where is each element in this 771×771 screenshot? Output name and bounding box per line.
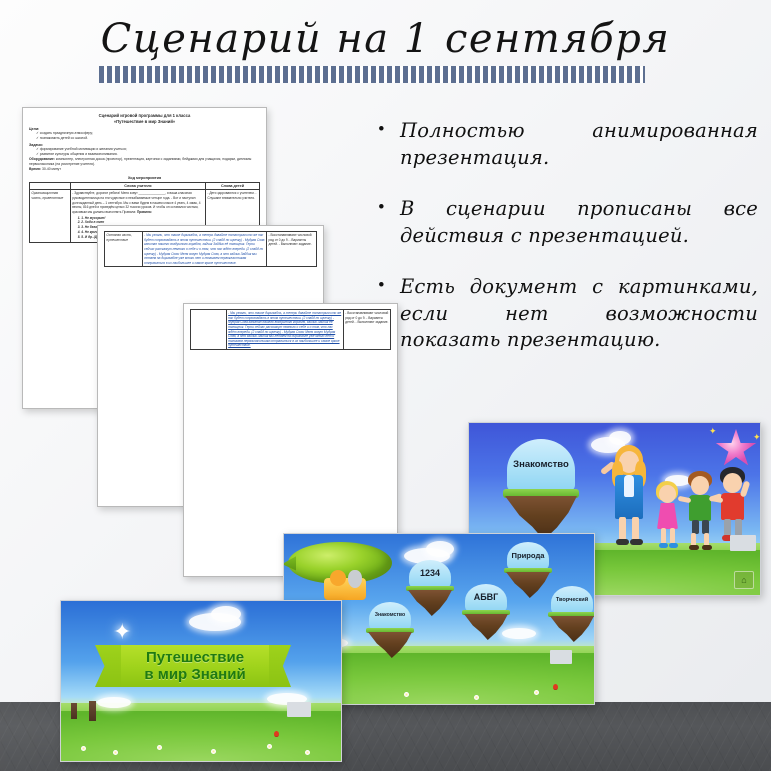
island-label: 1234 [409, 560, 451, 588]
equipment-text: компьютер, электронная доска (проектор),… [29, 157, 251, 166]
equipment-line: Оборудование: компьютер, электронная дос… [29, 157, 260, 167]
list-item: • Есть документ с картинками, если нет в… [378, 274, 758, 355]
col-header-stage [30, 183, 71, 190]
scenario-table-page2: Основная часть, путешествие - Мы узнали,… [104, 231, 317, 267]
cell-children: - Восстанавливают числовой ряд от 0 до 9… [343, 310, 390, 350]
bullet-text: В сценарии прописаны все действия с през… [392, 196, 758, 250]
teacher-figure [609, 445, 649, 547]
goal-text: познакомить детей со школой. [40, 136, 88, 140]
child-boy-green-figure [685, 471, 717, 553]
island-label: АБВГ [465, 584, 507, 612]
list-item: • В сценарии прописаны все действия с пр… [378, 196, 758, 250]
col-header-teacher: Слова учителя [70, 183, 205, 190]
presentation-preview-canvas: Сценарий на 1 сентября • Полностью аними… [0, 0, 771, 771]
title-divider-stripes [99, 66, 645, 83]
table-row: Основная часть, путешествие - Мы узнали,… [105, 232, 317, 267]
time-label: Время: [29, 167, 41, 171]
col-header-children: Слова детей [205, 183, 259, 190]
goal-text: создать праздничную атмосферу; [40, 131, 93, 135]
rules-label: Правила: [137, 210, 152, 214]
island-znakomstvo[interactable]: Знакомство [499, 439, 583, 539]
star-character-icon [715, 429, 757, 469]
task-text: развитие культуры общения и взаимопонима… [40, 152, 118, 156]
section-heading: Ход мероприятия [29, 176, 260, 180]
bullet-marker-icon: • [378, 118, 392, 142]
table-header-row: Слова учителя Слова детей [30, 183, 260, 190]
bullet-text: Есть документ с картинками, если нет воз… [392, 274, 758, 355]
island-tvorcheskiy[interactable]: Творческий [546, 586, 595, 644]
cell-teacher: - Мы узнали, что такое дирижабль, а тепе… [142, 232, 266, 267]
table-row: - Мы узнали, что такое дирижабль, а тепе… [191, 310, 391, 350]
island-label: Знакомство [507, 439, 575, 491]
house-decoration [287, 702, 311, 717]
windmill-decoration [89, 701, 96, 721]
equipment-label: Оборудование: [29, 157, 55, 161]
ladybug-decoration [553, 684, 558, 690]
list-item: • Полностью анимированная презентация. [378, 118, 758, 172]
time-text: 30-40 минут [42, 167, 61, 171]
goal-item: ✓ познакомить детей со школой. [29, 136, 260, 141]
sparkle-icon: ✦ [709, 427, 717, 436]
rabbit-character-icon [348, 570, 362, 588]
banner-line-2: в мир Знаний [144, 666, 245, 683]
ladybug-decoration [274, 731, 279, 737]
slide-title[interactable]: ✦ Путешествие в мир Знаний [60, 600, 342, 762]
bullet-marker-icon: • [378, 196, 392, 220]
bullet-text: Полностью анимированная презентация. [392, 118, 758, 172]
title-banner: Путешествие в мир Знаний [121, 645, 269, 687]
house-decoration [550, 650, 572, 664]
windmill-decoration [71, 703, 77, 719]
cell-teacher: - Мы узнали, что такое дирижабль, а тепе… [226, 310, 343, 350]
time-line: Время: 30-40 минут [29, 167, 260, 172]
cell-stage [191, 310, 227, 350]
page-title: Сценарий на 1 сентября [0, 16, 771, 62]
cell-teacher-text: - Мы узнали, что такое дирижабль, а тепе… [144, 233, 264, 265]
cell-stage: Основная часть, путешествие [105, 232, 143, 267]
home-icon[interactable]: ⌂ [734, 571, 754, 589]
scenario-table-page3: - Мы узнали, что такое дирижабль, а тепе… [190, 309, 391, 350]
task-text: формирование учебной мотивации и желания… [40, 147, 127, 151]
sparkle-icon: ✦ [753, 433, 761, 442]
island-label: Природа [507, 542, 549, 570]
island-label: Творческий [551, 586, 593, 614]
cell-children: - Восстанавливают числовой ряд от 0 до 9… [267, 232, 317, 267]
cell-stage: Организационная часть, приветствие [30, 190, 71, 242]
document-title-line1: Сценарий игровой программы для 1 класса [99, 113, 191, 118]
child-girl-figure [653, 481, 683, 551]
bullet-marker-icon: • [378, 274, 392, 298]
sparkle-star-icon: ✦ [113, 621, 131, 643]
feature-bullet-list: • Полностью анимированная презентация. •… [378, 118, 758, 378]
owl-character-icon [330, 570, 346, 586]
document-title-line2: «Путешествие в мир Знаний» [114, 119, 176, 124]
house-decoration [730, 535, 756, 551]
banner-line-1: Путешествие [146, 649, 244, 666]
island-1234[interactable]: 1234 [404, 560, 456, 618]
